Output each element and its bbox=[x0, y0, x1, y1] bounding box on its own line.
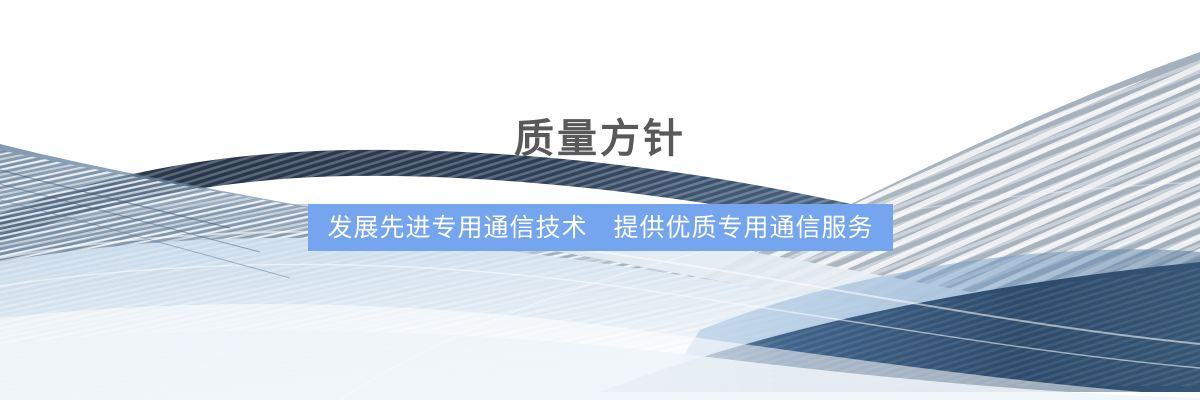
quality-policy-banner: 质量方针 发展先进专用通信技术 提供优质专用通信服务 bbox=[0, 0, 1200, 400]
slogan-text: 发展先进专用通信技术 提供优质专用通信服务 bbox=[327, 213, 873, 243]
slogan-bar: 发展先进专用通信技术 提供优质专用通信服务 bbox=[308, 204, 893, 251]
page-title: 质量方针 bbox=[0, 114, 1200, 164]
banner-content: 质量方针 发展先进专用通信技术 提供优质专用通信服务 bbox=[0, 0, 1200, 400]
